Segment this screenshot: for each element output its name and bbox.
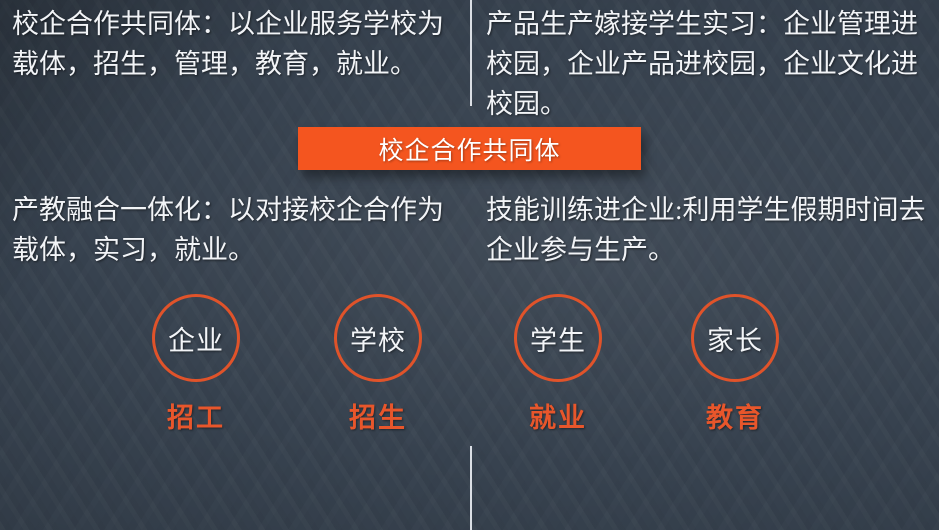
node-circle: 企业	[152, 294, 240, 382]
node-parent: 家长 教育	[675, 294, 795, 435]
node-label: 学生	[530, 319, 586, 358]
node-label: 家长	[707, 319, 763, 358]
node-label: 企业	[168, 319, 224, 358]
node-student: 学生 就业	[498, 294, 618, 435]
center-banner-label: 校企合作共同体	[378, 131, 560, 167]
node-label: 学校	[350, 319, 406, 358]
node-caption: 招生	[318, 396, 438, 435]
node-caption: 就业	[498, 396, 618, 435]
node-caption: 教育	[675, 396, 795, 435]
node-caption: 招工	[136, 396, 256, 435]
node-circle: 学生	[514, 294, 602, 382]
node-circle: 家长	[691, 294, 779, 382]
vertical-divider-bottom	[470, 446, 472, 530]
node-enterprise: 企业 招工	[136, 294, 256, 435]
quadrant-text-top-right: 产品生产嫁接学生实习：企业管理进校园，企业产品进校园，企业文化进校园。	[486, 4, 936, 124]
node-school: 学校 招生	[318, 294, 438, 435]
node-circle: 学校	[334, 294, 422, 382]
slide-canvas: 校企合作共同体：以企业服务学校为载体，招生，管理，教育，就业。 产品生产嫁接学生…	[0, 0, 939, 530]
quadrant-text-bottom-left: 产教融合一体化：以对接校企合作为载体，实习，就业。	[12, 190, 458, 270]
center-banner: 校企合作共同体	[298, 127, 641, 170]
quadrant-text-top-left: 校企合作共同体：以企业服务学校为载体，招生，管理，教育，就业。	[12, 4, 458, 84]
quadrant-text-bottom-right: 技能训练进企业:利用学生假期时间去企业参与生产。	[486, 190, 936, 270]
vertical-divider-top	[470, 0, 472, 106]
